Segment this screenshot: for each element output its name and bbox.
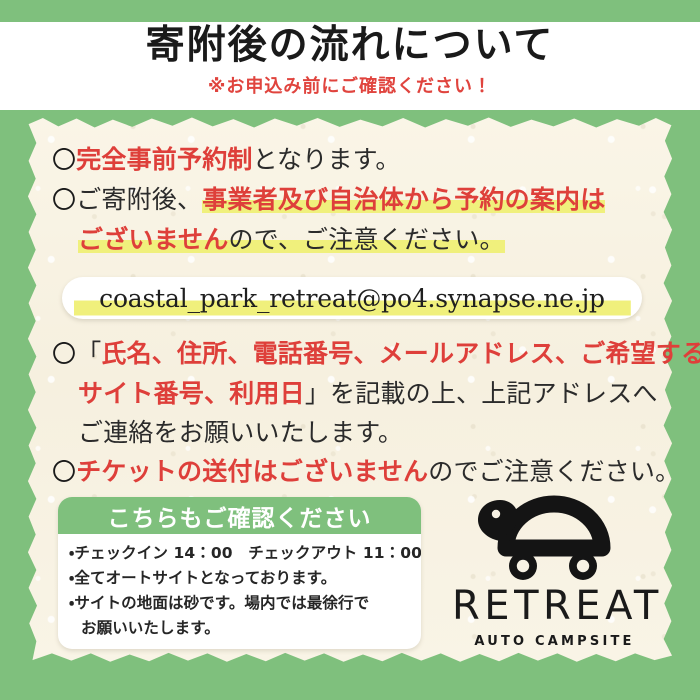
notice-text-segment: 「: [76, 339, 101, 368]
notice-text-segment: ご連絡をお願いいたします。: [78, 418, 403, 447]
brand-tagline: AUTO CAMPSITE: [452, 634, 657, 649]
bullet-circle-icon: 〇: [52, 146, 76, 174]
info-card-body: ・チェックイン 14：00 チェックアウト 11：00・全てオートサイトとなって…: [58, 534, 421, 641]
poster-canvas: 寄附後の流れについて ※お申込み前にご確認ください！ 〇完全事前予約制となります…: [0, 0, 700, 700]
notice-line: サイト番号、利用日」を記載の上、上記アドレスへ: [52, 374, 652, 413]
notice-line: ございませんので、ご注意ください。: [52, 220, 652, 259]
email-address-text: coastal_park_retreat@po4.synapse.ne.jp: [62, 277, 642, 319]
notice-line: ご連絡をお願いいたします。: [52, 413, 652, 452]
notice-text-segment: 完全事前予約制: [76, 145, 252, 174]
notice-text-segment: となります。: [253, 145, 401, 174]
notice-line: 〇完全事前予約制となります。: [52, 140, 652, 180]
info-card-line: お願いいたします。: [69, 616, 410, 641]
brand-logo: RETREAT AUTO CAMPSITE: [452, 484, 657, 659]
notice-line: 〇ご寄附後、事業者及び自治体から予約の案内は: [52, 180, 652, 220]
bullet-circle-icon: 〇: [52, 340, 76, 368]
notice-text-segment: チケットの送付はございません: [76, 457, 428, 486]
brand-name: RETREAT: [452, 584, 657, 628]
page-subtitle: ※お申込み前にご確認ください！: [0, 76, 700, 98]
info-card-line: ・全てオートサイトとなっております。: [69, 566, 410, 591]
info-card-line: ・チェックイン 14：00 チェックアウト 11：00: [69, 541, 410, 566]
additional-info-card: こちらもご確認ください ・チェックイン 14：00 チェックアウト 11：00・…: [58, 497, 421, 649]
bullet-circle-icon: 〇: [52, 186, 76, 214]
notice-line: 〇「氏名、住所、電話番号、メールアドレス、ご希望する: [52, 334, 652, 374]
notice-text-segment: のでご注意ください。: [428, 457, 680, 486]
notice-list-primary: 〇完全事前予約制となります。〇ご寄附後、事業者及び自治体から予約の案内はございま…: [52, 140, 652, 259]
notice-text-segment: 」を記載の上、上記アドレスへ: [305, 379, 658, 408]
notice-text-segment: ので、ご注意ください。: [228, 225, 504, 254]
notice-text-segment: 氏名、住所、電話番号、メールアドレス、ご希望する: [101, 339, 700, 368]
notice-text-segment: サイト番号、利用日: [78, 379, 305, 408]
notice-list-secondary: 〇「氏名、住所、電話番号、メールアドレス、ご希望するサイト番号、利用日」を記載の…: [52, 334, 652, 492]
turtle-icon: [466, 484, 642, 580]
info-card-line: ・サイトの地面は砂です。場内では最徐行で: [69, 591, 410, 616]
bullet-circle-icon: 〇: [52, 458, 76, 486]
page-title: 寄附後の流れについて: [0, 22, 700, 70]
info-card-heading: こちらもご確認ください: [58, 497, 421, 534]
email-address-box[interactable]: coastal_park_retreat@po4.synapse.ne.jp: [62, 277, 642, 319]
notice-text-segment: ございません: [78, 225, 228, 254]
notice-text-segment: ご寄附後、: [76, 185, 202, 214]
header-top-green-band: [0, 0, 700, 22]
notice-text-segment: 事業者及び自治体から予約の案内は: [202, 185, 605, 214]
